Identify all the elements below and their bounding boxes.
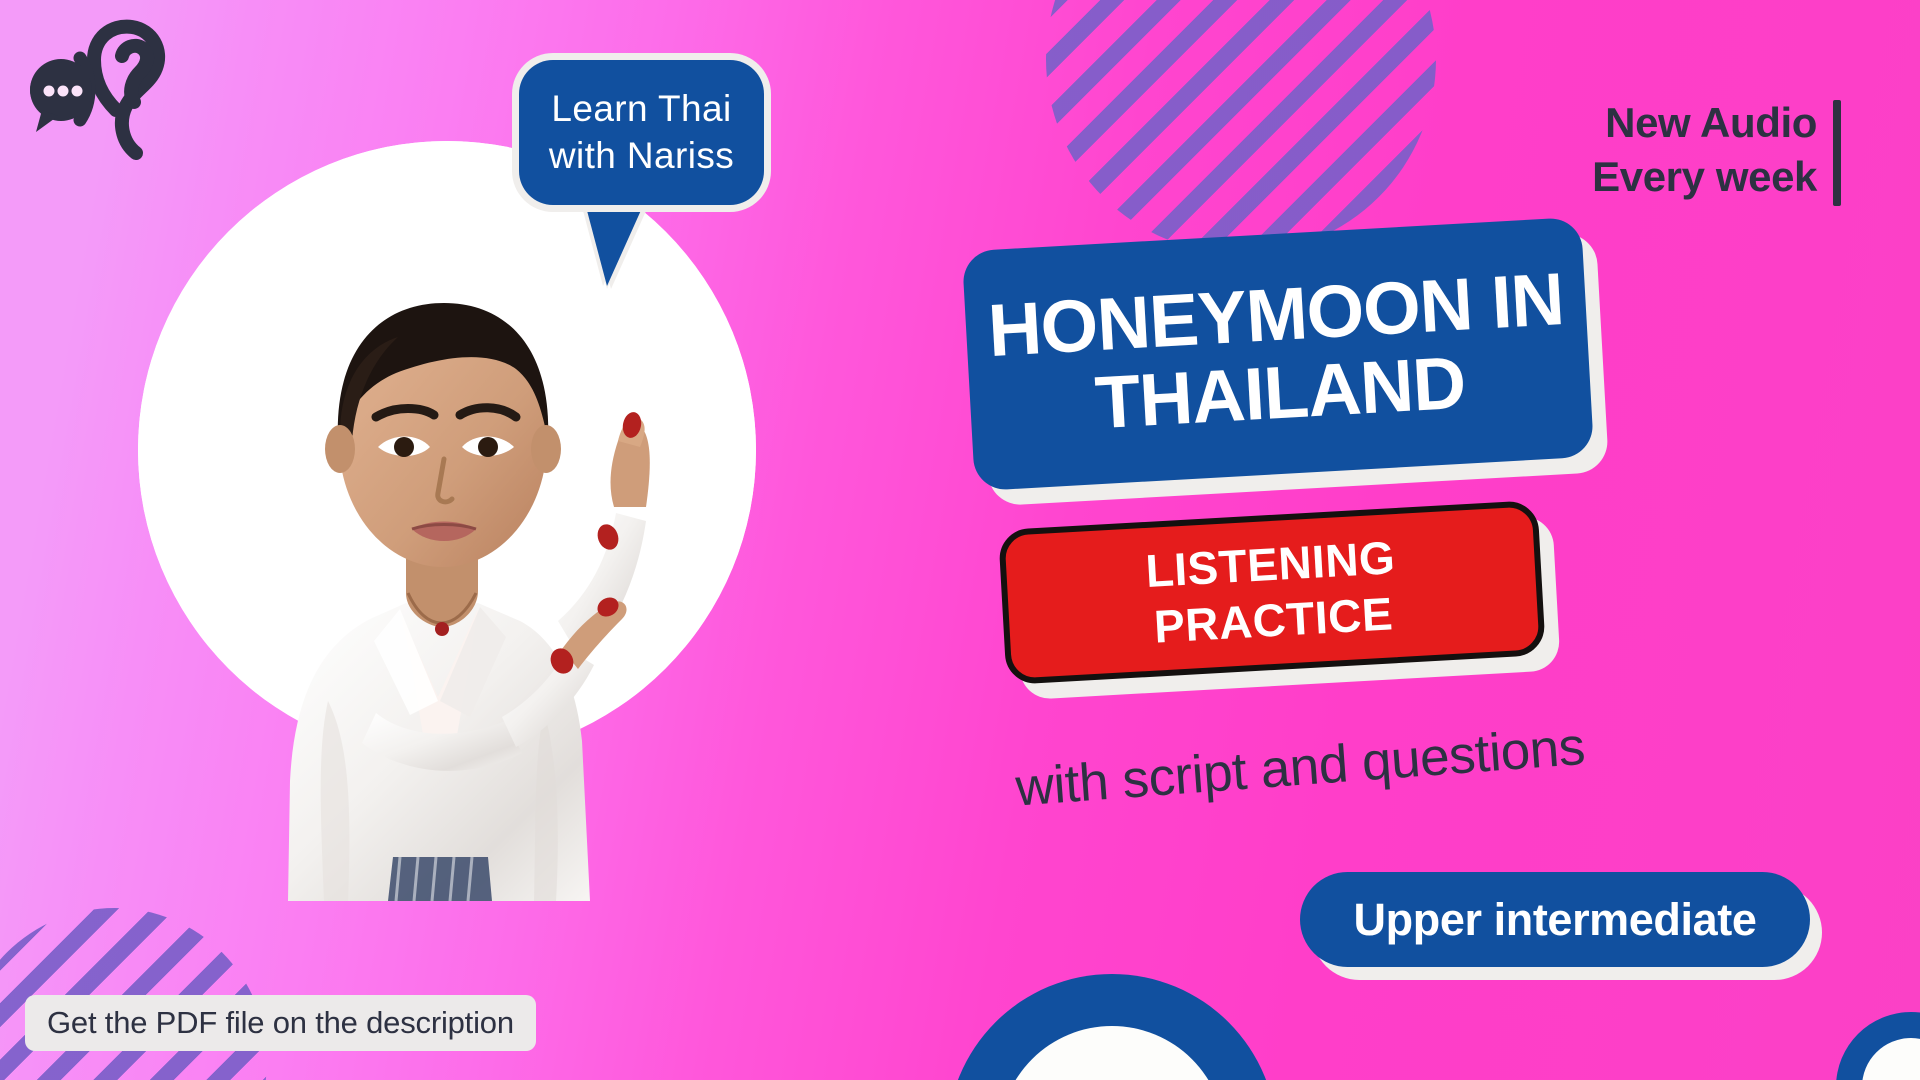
blue-ring-decoration-bottom [947, 974, 1277, 1080]
new-audio-line1: New Audio [1527, 96, 1817, 150]
new-audio-note: New Audio Every week [1527, 96, 1817, 204]
title-banner-text: HONEYMOON IN THAILAND [962, 217, 1594, 491]
blue-ring-decoration-right [1836, 1012, 1920, 1080]
speech-bubble: Learn Thai with Nariss [519, 60, 764, 205]
level-pill-text: Upper intermediate [1300, 872, 1810, 967]
speech-bubble-line1: Learn Thai [551, 86, 731, 132]
ring-hole [999, 1026, 1225, 1080]
pdf-caption: Get the PDF file on the description [25, 995, 536, 1051]
speech-bubble-line2: with Nariss [549, 133, 734, 179]
striped-circle-decoration-bottom-left [0, 908, 267, 1080]
striped-circle-decoration-top-right [1046, 0, 1436, 254]
ear-listening-icon [18, 10, 238, 160]
subtitle-text: with script and questions [1014, 712, 1637, 818]
practice-badge-text: LISTENING PRACTICE [998, 500, 1546, 685]
ring-hole [1862, 1038, 1920, 1080]
level-pill: Upper intermediate [1300, 872, 1810, 967]
new-audio-line2: Every week [1527, 150, 1817, 204]
listening-practice-badge: LISTENING PRACTICE [998, 500, 1546, 685]
presenter-photo [138, 141, 756, 901]
title-line2: THAILAND [1093, 344, 1467, 442]
speech-bubble-text: Learn Thai with Nariss [519, 60, 764, 205]
thumbnail-canvas: Learn Thai with Nariss New Audio Every w… [0, 0, 1920, 1080]
vertical-divider-bar [1833, 100, 1841, 206]
main-title-banner: HONEYMOON IN THAILAND [962, 217, 1594, 491]
